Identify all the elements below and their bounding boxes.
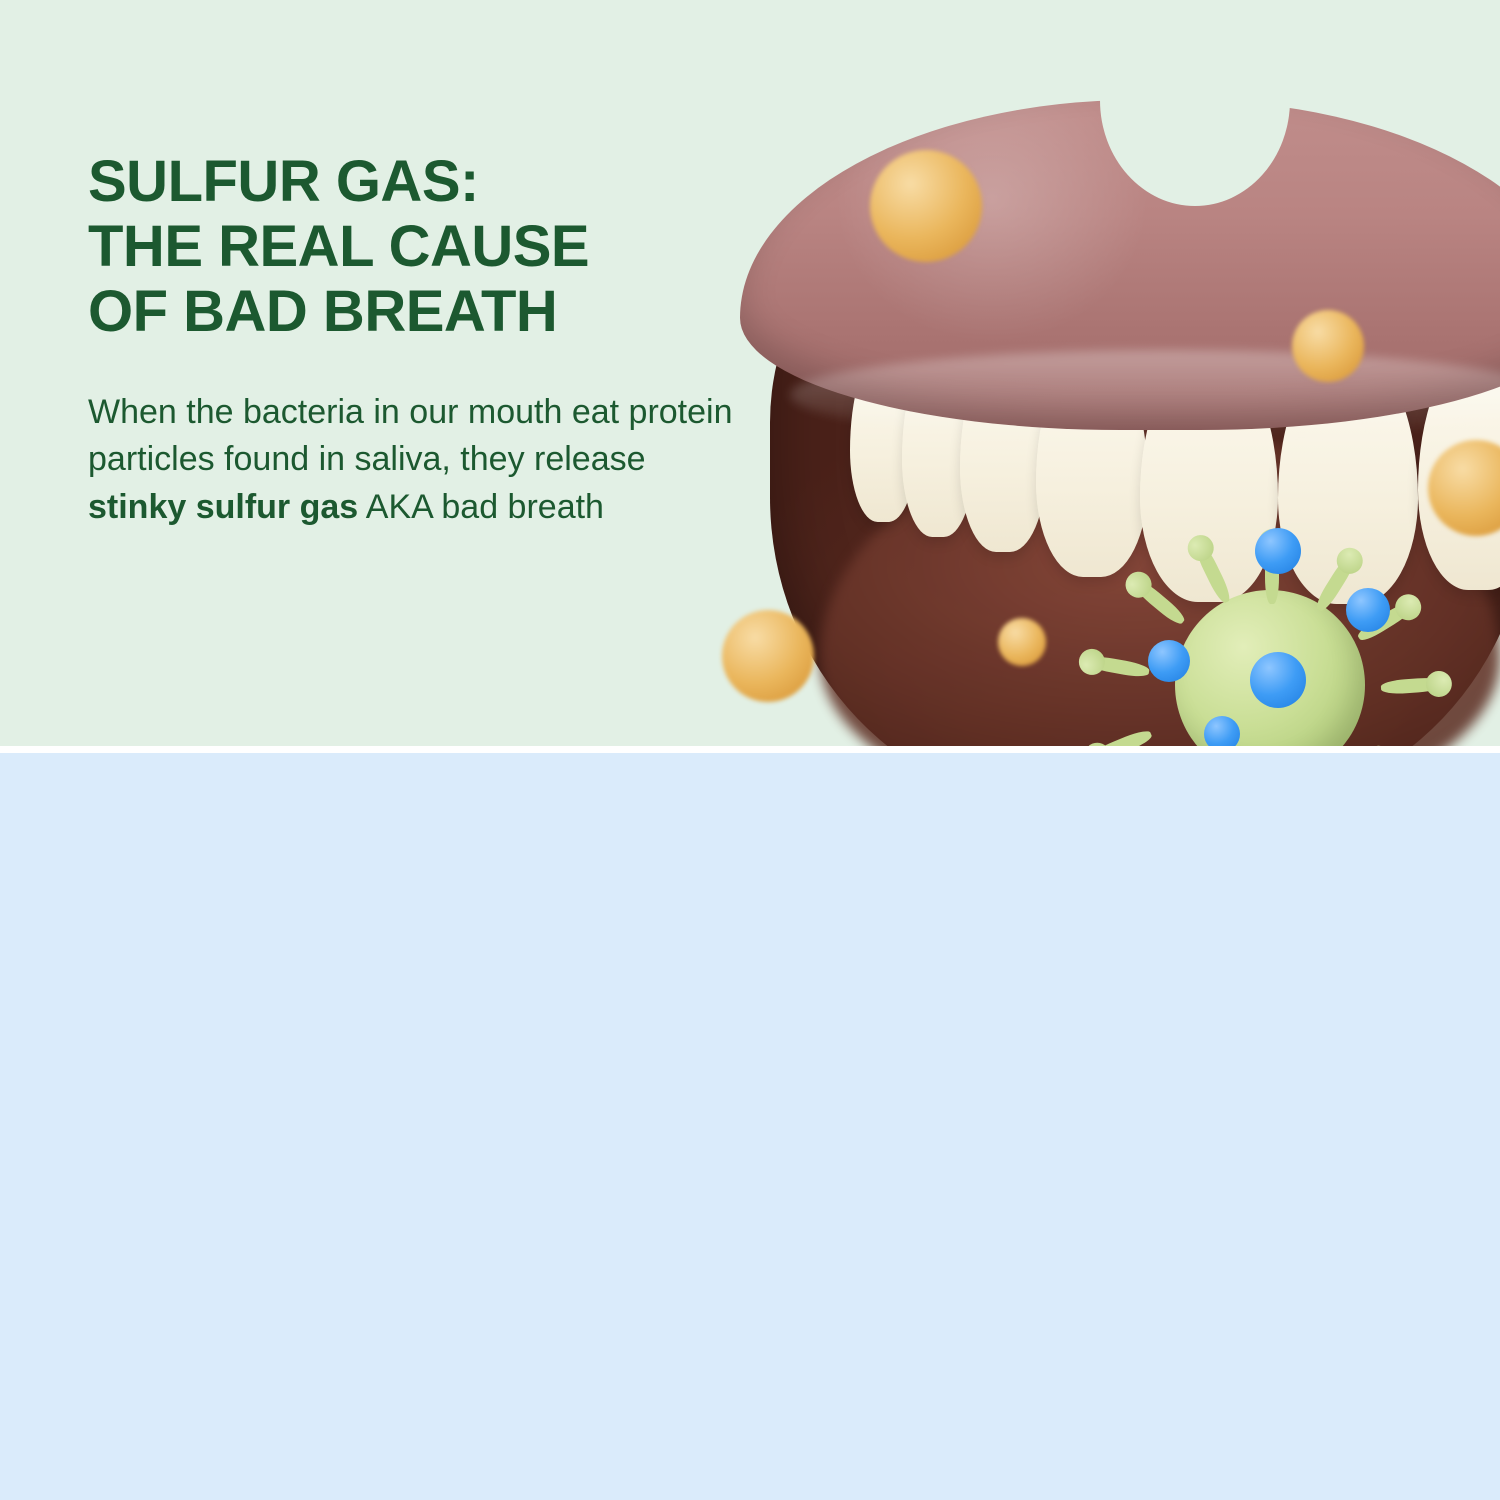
bacteria-germ <box>1100 520 1430 750</box>
top-body-text: When the bacteria in our mouth eat prote… <box>88 389 748 532</box>
bottom-panel: OUR SMART-ZINCTECHNOLOGY: THEREAL SOLUTI… <box>0 750 1500 1500</box>
top-panel: SULFUR GAS:THE REAL CAUSEOF BAD BREATH W… <box>0 0 1500 750</box>
zinc-ion-dot <box>1255 528 1301 574</box>
germ-spike <box>1381 677 1444 695</box>
zinc-ion-dot <box>1346 588 1390 632</box>
top-heading: SULFUR GAS:THE REAL CAUSEOF BAD BREATH <box>88 150 748 345</box>
germ-spike <box>1131 577 1187 628</box>
zinc-ion-dot <box>1204 716 1240 750</box>
sulfur-particle <box>870 150 982 262</box>
top-mouth-illustration <box>700 0 1500 750</box>
germ-spike <box>1193 541 1234 605</box>
infographic-poster: SULFUR GAS:THE REAL CAUSEOF BAD BREATH W… <box>0 0 1500 1500</box>
zinc-ion-dot <box>1148 640 1190 682</box>
sulfur-particle <box>1292 310 1364 382</box>
zinc-ion-dot <box>1250 652 1306 708</box>
sulfur-particle <box>998 618 1046 666</box>
top-body-emphasis: stinky sulfur gas <box>88 488 358 526</box>
top-copy-block: SULFUR GAS:THE REAL CAUSEOF BAD BREATH W… <box>88 150 748 532</box>
section-divider <box>0 746 1500 753</box>
sulfur-particle <box>722 610 814 702</box>
